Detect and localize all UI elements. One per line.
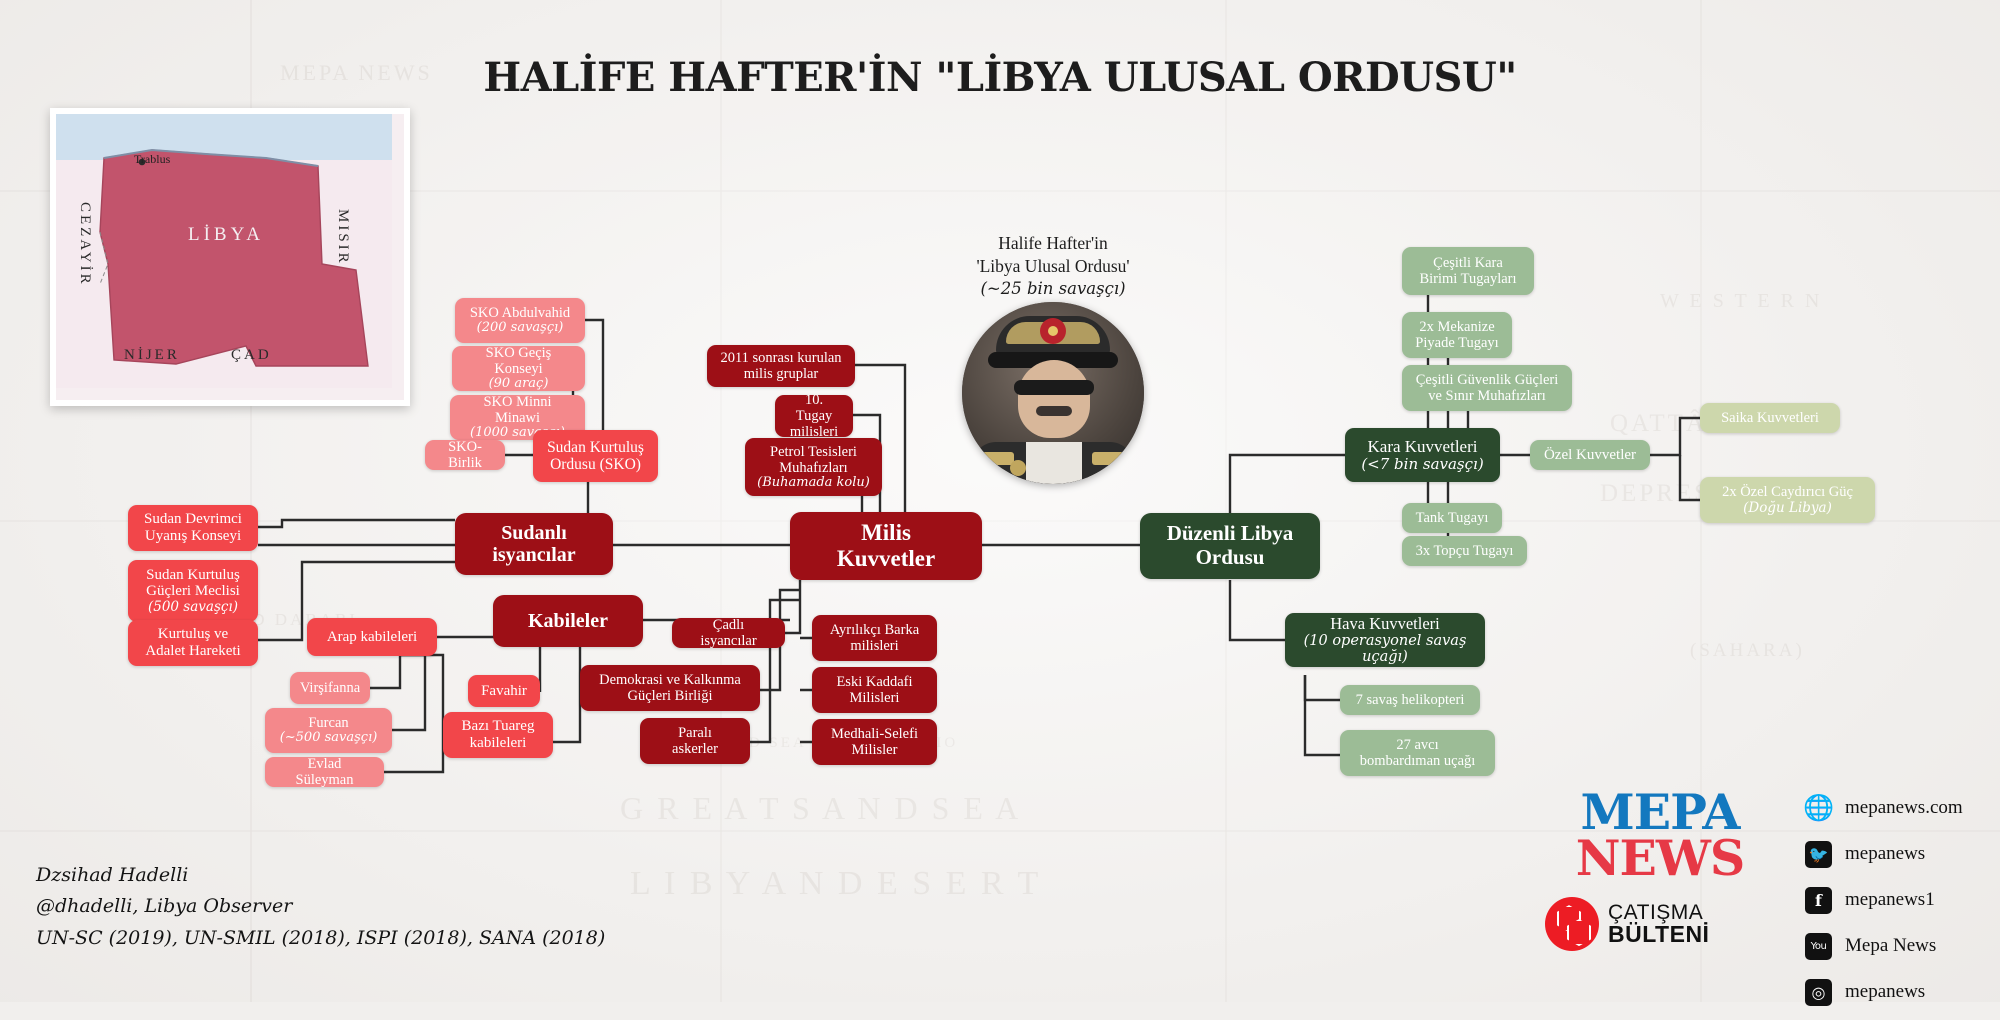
node-label: SKO Minni Minawi [462, 394, 573, 426]
node-tank-tugayi[interactable]: Tank Tugayı [1402, 503, 1502, 533]
node-label-2: Kuvvetler [837, 546, 935, 572]
node-label: 2x Mekanize [1419, 319, 1494, 335]
node-sublabel: (90 araç) [489, 377, 549, 392]
node-27-avci-bombardiman-ucagi[interactable]: 27 avcı bombardıman uçağı [1340, 730, 1495, 776]
node-sko-abdulvahid[interactable]: SKO Abdulvahid (200 savaşçı) [455, 298, 585, 343]
node-label-2: Piyade Tugayı [1415, 335, 1498, 351]
node-label: Bazı Tuareg [462, 718, 535, 735]
node-3x-topcu-tugayi[interactable]: 3x Topçu Tugayı [1402, 536, 1527, 566]
social-links: 🌐 mepanews.com 🐦 mepanews f mepanews1 Yo… [1805, 790, 1963, 1020]
node-sublabel: (<7 bin savaşçı) [1361, 456, 1483, 473]
node-sudanli-isyancilar[interactable]: Sudanlı isyancılar [455, 513, 613, 575]
node-sko-gecis-konseyi[interactable]: SKO Geçiş Konseyi (90 araç) [452, 346, 585, 391]
node-label-2: isyancılar [492, 544, 575, 566]
node-kara-kuvvetleri[interactable]: Kara Kuvvetleri (<7 bin savaşçı) [1345, 428, 1500, 482]
node-eski-kaddafi-milisleri[interactable]: Eski Kaddafi Milisleri [812, 667, 937, 713]
node-label: SKO-Birlik [437, 439, 493, 471]
node-cesitli-guvenlik-gucleri[interactable]: Çeşitli Güvenlik Güçleri ve Sınır Muhafı… [1402, 365, 1572, 411]
node-duzenli-libya-ordusu[interactable]: Düzenli Libya Ordusu [1140, 513, 1320, 579]
node-label: 2x Özel Caydırıcı Güç [1722, 484, 1853, 500]
node-label-2: ve Sınır Muhafızları [1428, 388, 1546, 404]
node-label: 3x Topçu Tugayı [1416, 543, 1514, 559]
node-label: Düzenli Libya [1167, 522, 1294, 546]
node-furcan[interactable]: Furcan (~500 savaşçı) [265, 708, 392, 753]
node-label: Çeşitli Güvenlik Güçleri [1416, 372, 1559, 388]
node-label: Medhali-Selefi [831, 726, 918, 742]
node-label: Sudan Kurtuluş [146, 567, 240, 584]
node-cesitli-kara-birimi-tugaylari[interactable]: Çeşitli Kara Birimi Tugayları [1402, 247, 1534, 295]
node-label-2: Uyanış Konseyi [145, 528, 241, 545]
node-sko-birlik[interactable]: SKO-Birlik [425, 440, 505, 470]
node-label: Kurtuluş ve [158, 626, 228, 643]
node-label-2: Adalet Hareketi [145, 643, 240, 660]
node-label-2: Milisler [852, 742, 898, 758]
node-label: SKO Geçiş Konseyi [464, 345, 573, 377]
node-label: Arap kabileleri [327, 629, 417, 646]
node-sudan-kurtulus-gucleri-meclisi[interactable]: Sudan Kurtuluş Güçleri Meclisi (500 sava… [128, 560, 258, 622]
credits-block: Dzsihad Hadelli @dhadelli, Libya Observe… [36, 860, 605, 954]
node-medhali-selefi-milisler[interactable]: Medhali-Selefi Milisler [812, 719, 937, 765]
node-label-2: Ordusu [1196, 546, 1265, 570]
twitter-icon: 🐦 [1805, 841, 1832, 868]
node-sublabel: (500 savaşçı) [148, 600, 238, 615]
catisma-line1: ÇATIŞMA [1608, 902, 1709, 923]
node-label-2: askerler [672, 741, 718, 757]
node-label: Furcan [308, 715, 348, 731]
mepa-news-logo: MEPA NEWS [1545, 790, 1775, 881]
node-label: Virşifanna [300, 680, 360, 696]
node-label: Özel Kuvvetler [1544, 447, 1636, 464]
social-row-website[interactable]: 🌐 mepanews.com [1805, 790, 1963, 826]
node-saika-kuvvetleri[interactable]: Saika Kuvvetleri [1700, 403, 1840, 433]
node-label-2: milisleri [850, 638, 898, 654]
node-milis-kuvvetler[interactable]: Milis Kuvvetler [790, 512, 982, 580]
node-label: Paralı [678, 725, 712, 741]
leader-line3: (~25 bin savaşçı) [900, 278, 1206, 300]
social-row-instagram[interactable]: ◎ mepanews [1805, 974, 1963, 1010]
node-label: SKO Abdulvahid [470, 305, 570, 321]
node-label-2: milis gruplar [744, 366, 819, 382]
node-label-2: bombardıman uçağı [1360, 753, 1476, 769]
node-label: Demokrasi ve Kalkınma [599, 672, 741, 688]
brand-block: MEPA NEWS ÇATIŞMA BÜLTENİ [1545, 790, 1775, 951]
node-evlad-suleyman[interactable]: Evlad Süleyman [265, 757, 384, 787]
node-label: Çeşitli Kara [1433, 255, 1503, 271]
node-7-savas-helikopteri[interactable]: 7 savaş helikopteri [1340, 685, 1480, 715]
node-sudan-kurtulus-ordusu[interactable]: Sudan Kurtuluş Ordusu (SKO) [533, 430, 658, 482]
node-label: Petrol Tesisleri [770, 444, 857, 460]
node-arap-kabileleri[interactable]: Arap kabileleri [307, 618, 437, 656]
node-label: Favahir [481, 683, 527, 700]
node-label: Tank Tugayı [1416, 510, 1489, 526]
youtube-icon: You [1805, 933, 1832, 960]
node-label: 7 savaş helikopteri [1356, 692, 1465, 708]
node-label: Çadlı isyancılar [684, 617, 773, 649]
node-cadli-isyancilar[interactable]: Çadlı isyancılar [672, 618, 785, 648]
node-label: Eski Kaddafi [836, 674, 912, 690]
node-label: 10. Tugay [787, 392, 841, 424]
node-demokrasi-kalkinma-gucleri-birligi[interactable]: Demokrasi ve Kalkınma Güçleri Birliği [580, 665, 760, 711]
node-label-2: Güçleri Birliği [628, 688, 713, 704]
node-label: Sudan Devrimci [144, 511, 242, 528]
node-label-2: Milisleri [850, 690, 900, 706]
node-label: Ayrılıkçı Barka [830, 622, 919, 638]
node-label: Sudan Kurtuluş [547, 439, 644, 456]
credit-handle: @dhadelli, Libya Observer [36, 891, 605, 922]
leader-line2: 'Libya Ulusal Ordusu' [900, 255, 1206, 278]
node-sublabel: (Doğu Libya) [1743, 501, 1832, 516]
node-label: Evlad Süleyman [277, 756, 372, 788]
node-kabileler[interactable]: Kabileler [493, 595, 643, 647]
catisma-line2: BÜLTENİ [1608, 923, 1709, 946]
node-sudan-devrimci-uyanis-konseyi[interactable]: Sudan Devrimci Uyanış Konseyi [128, 505, 258, 551]
catisma-bulteni-logo: ÇATIŞMA BÜLTENİ [1545, 897, 1775, 951]
node-label: Kara Kuvvetleri [1368, 437, 1478, 456]
node-2011-sonrasi-milis-gruplar[interactable]: 2011 sonrası kurulan milis gruplar [707, 345, 855, 387]
node-label-2: Ordusu (SKO) [550, 456, 641, 473]
node-label: Sudanlı [501, 522, 567, 544]
node-label-2: Birimi Tugayları [1419, 271, 1516, 287]
leader-line1: Halife Hafter'in [900, 232, 1206, 255]
social-label: mepanews [1845, 843, 1925, 865]
node-2x-ozel-caydirici-guc[interactable]: 2x Özel Caydırıcı Güç (Doğu Libya) [1700, 477, 1875, 523]
node-label: Saika Kuvvetleri [1721, 410, 1819, 426]
node-ayrilikci-barka-milisleri[interactable]: Ayrılıkçı Barka milisleri [812, 615, 937, 661]
leader-portrait [962, 302, 1144, 484]
social-row-youtube[interactable]: You Mepa News [1805, 928, 1963, 964]
social-label: mepanews [1845, 981, 1925, 1003]
social-label: mepanews1 [1845, 889, 1935, 911]
node-hava-kuvvetleri[interactable]: Hava Kuvvetleri (10 operasyonel savaş uç… [1285, 613, 1485, 667]
social-row-twitter[interactable]: 🐦 mepanews [1805, 836, 1963, 872]
node-label-2: kabileleri [470, 735, 527, 752]
node-label: 2011 sonrası kurulan [720, 350, 841, 366]
instagram-icon: ◎ [1805, 979, 1832, 1006]
credit-sources: UN-SC (2019), UN-SMIL (2018), ISPI (2018… [36, 923, 605, 954]
social-label: mepanews.com [1845, 797, 1963, 819]
social-row-facebook[interactable]: f mepanews1 [1805, 882, 1963, 918]
node-label: 27 avcı [1396, 737, 1438, 753]
node-label: Hava Kuvvetleri [1330, 615, 1440, 633]
leader-caption: Halife Hafter'in 'Libya Ulusal Ordusu' (… [900, 232, 1206, 300]
social-label: Mepa News [1845, 935, 1936, 957]
hexagon-icon [1545, 897, 1599, 951]
node-label-2: Güçleri Meclisi [146, 583, 240, 600]
logo-news-text: NEWS [1545, 836, 1775, 882]
facebook-icon: f [1805, 887, 1832, 914]
node-label-2: Muhafızları [779, 460, 847, 476]
node-sublabel: (10 operasyonel savaş uçağı) [1297, 633, 1473, 665]
node-sublabel: (Buhamada kolu) [757, 476, 870, 491]
node-ozel-kuvvetler[interactable]: Özel Kuvvetler [1530, 440, 1650, 470]
node-virsifanna[interactable]: Virşifanna [290, 672, 370, 704]
node-parali-askerler[interactable]: Paralı askerler [640, 718, 750, 764]
node-label: Milis [861, 520, 911, 546]
credit-author: Dzsihad Hadelli [36, 860, 605, 891]
node-bazi-tuareg-kabileleri[interactable]: Bazı Tuareg kabileleri [443, 712, 553, 758]
node-2x-mekanize-piyade-tugayi[interactable]: 2x Mekanize Piyade Tugayı [1402, 312, 1512, 358]
node-sublabel: (200 savaşçı) [477, 321, 564, 336]
globe-icon: 🌐 [1805, 795, 1832, 822]
node-kurtulus-ve-adalet-hareketi[interactable]: Kurtuluş ve Adalet Hareketi [128, 620, 258, 666]
node-sublabel: (~500 savaşçı) [280, 731, 378, 746]
node-10-tugay-milisleri[interactable]: 10. Tugay milisleri [775, 395, 853, 437]
node-favahir[interactable]: Favahir [468, 675, 540, 707]
node-petrol-tesisleri-muhafizlari[interactable]: Petrol Tesisleri Muhafızları (Buhamada k… [745, 438, 882, 496]
node-label-fallback: Kabileler [528, 610, 608, 632]
